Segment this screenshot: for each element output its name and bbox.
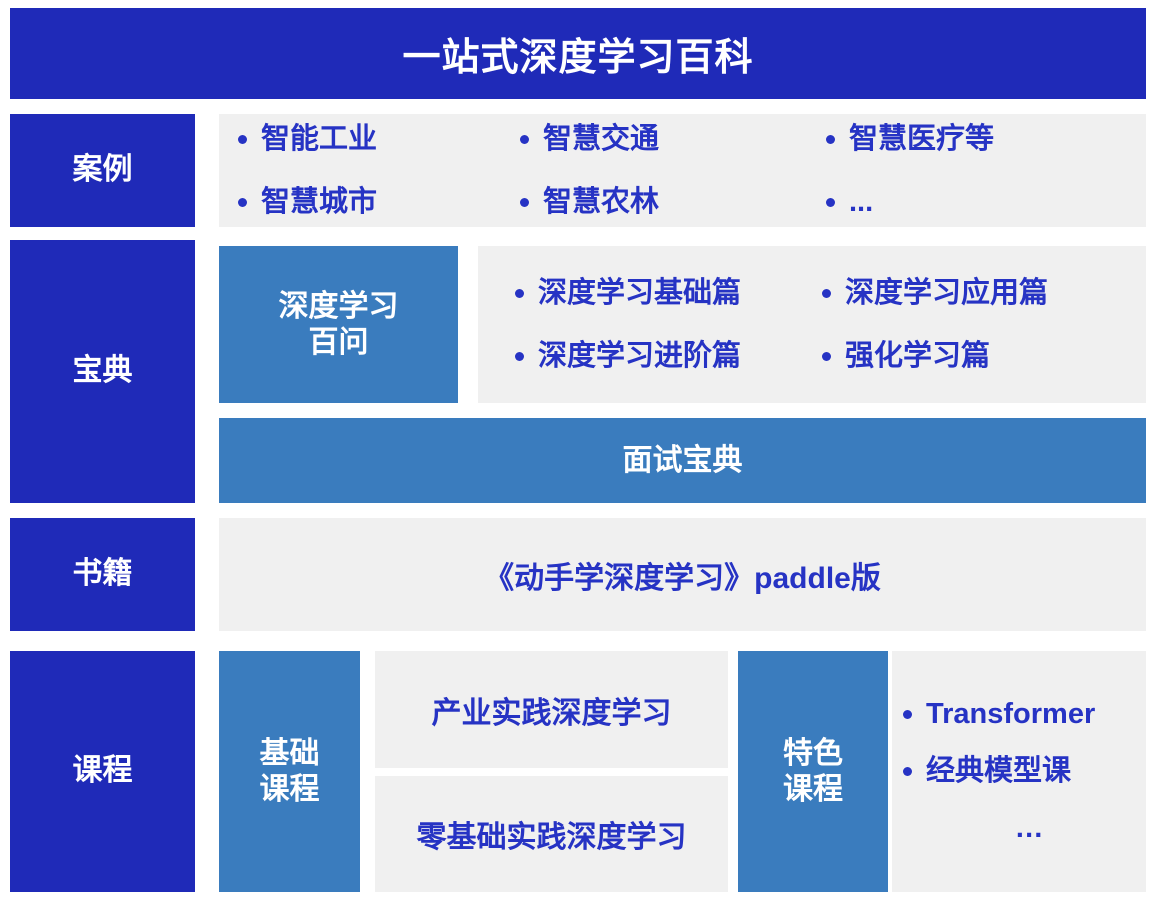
- list-item[interactable]: 深度学习基础篇: [515, 279, 741, 308]
- row-label-books[interactable]: 书籍: [10, 518, 195, 631]
- bullet-icon: [826, 198, 835, 207]
- bullet-icon: [903, 767, 912, 776]
- tile-line-2: 课程: [260, 772, 320, 808]
- book-title: 《动手学深度学习》paddle版: [219, 518, 1146, 631]
- tile-line-1: 基础: [260, 736, 320, 772]
- row-label-cases[interactable]: 案例: [10, 114, 195, 227]
- list-item[interactable]: 智能工业: [238, 125, 377, 154]
- list-item[interactable]: 经典模型课: [903, 757, 1095, 786]
- list-item[interactable]: 强化学习篇: [822, 342, 1048, 371]
- deep-learning-encyclopedia-diagram: 一站式深度学习百科 案例 智能工业 智慧城市 智慧交通 智慧农林: [0, 0, 1156, 898]
- row-label-courses[interactable]: 课程: [10, 651, 195, 892]
- bullet-icon: [515, 352, 524, 361]
- basic-course-item-1[interactable]: 产业实践深度学习: [375, 651, 728, 768]
- bullet-icon: [515, 289, 524, 298]
- bullet-icon: [238, 135, 247, 144]
- course-name: 零基础实践深度学习: [375, 776, 728, 892]
- list-item[interactable]: Transformer: [903, 700, 1095, 729]
- page-title: 一站式深度学习百科: [10, 8, 1146, 99]
- basic-course-item-2[interactable]: 零基础实践深度学习: [375, 776, 728, 892]
- list-item[interactable]: 深度学习进阶篇: [515, 342, 741, 371]
- list-item[interactable]: ...: [826, 188, 994, 217]
- list-item[interactable]: 智慧农林: [520, 188, 659, 217]
- featured-courses-list: Transformer 经典模型课 …: [903, 651, 1146, 892]
- bullet-icon: [822, 352, 831, 361]
- row-label-handbook[interactable]: 宝典: [10, 240, 195, 503]
- bullet-icon: [520, 198, 529, 207]
- list-item[interactable]: 智慧城市: [238, 188, 377, 217]
- course-name: 产业实践深度学习: [375, 651, 728, 768]
- list-item[interactable]: 深度学习应用篇: [822, 279, 1048, 308]
- featured-courses-tile[interactable]: 特色 课程: [738, 651, 888, 892]
- tile-line-1: 特色: [783, 736, 843, 772]
- basic-courses-tile[interactable]: 基础 课程: [219, 651, 360, 892]
- handbook-column-2: 深度学习应用篇 强化学习篇: [822, 246, 1142, 403]
- books-panel[interactable]: 《动手学深度学习》paddle版: [219, 518, 1146, 631]
- tile-line-2: 百问: [309, 325, 369, 361]
- interview-handbook-banner[interactable]: 面试宝典: [219, 418, 1146, 503]
- bullet-icon: [822, 289, 831, 298]
- list-item[interactable]: 智慧医疗等: [826, 125, 994, 154]
- cases-column-2: 智慧交通 智慧农林: [520, 114, 820, 227]
- bullet-icon: [826, 135, 835, 144]
- handbook-column-1: 深度学习基础篇 深度学习进阶篇: [515, 246, 815, 403]
- list-item[interactable]: 智慧交通: [520, 125, 659, 154]
- tile-line-1: 深度学习: [279, 289, 399, 325]
- bullet-icon: [238, 198, 247, 207]
- cases-column-3: 智慧医疗等 ...: [826, 114, 1146, 227]
- featured-courses-more: …: [903, 814, 1095, 843]
- cases-column-1: 智能工业 智慧城市: [238, 114, 518, 227]
- bullet-icon: [520, 135, 529, 144]
- bullet-icon: [903, 710, 912, 719]
- handbook-hundred-questions-tile[interactable]: 深度学习 百问: [219, 246, 458, 403]
- tile-line-2: 课程: [783, 772, 843, 808]
